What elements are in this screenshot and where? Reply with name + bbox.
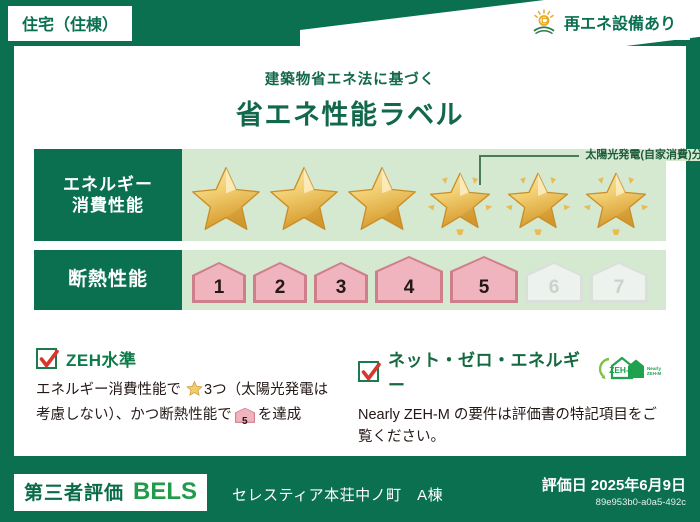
evaluation-info: 評価日 2025年6月9日 89e953b0-a0a5-492c — [542, 474, 686, 508]
net-zero-energy-body: Nearly ZEH-M の要件は評価書の特記項目をご覧ください。 — [358, 404, 664, 449]
label-title: 省エネ性能ラベル — [14, 93, 686, 132]
label-card: 建築物省エネ法に基づく 省エネ性能ラベル エネルギー 消費性能 太陽光発電(自家… — [14, 46, 686, 456]
energy-label-line1: エネルギー — [63, 174, 153, 195]
insulation-level-3: 3 — [312, 260, 370, 306]
svg-text:ZEH-M: ZEH-M — [609, 365, 636, 375]
insulation-performance-row: 断熱性能 1 — [34, 250, 666, 310]
evaluation-id: 89e953b0-a0a5-492c — [542, 497, 686, 508]
solar-caption-text: 太陽光発電(自家消費)分 — [579, 149, 700, 161]
building-name: セレスティア本荘中ノ町 A棟 — [232, 484, 443, 505]
insulation-level-1: 1 — [190, 260, 248, 306]
insulation-level-2: 2 — [251, 260, 309, 306]
zeh-m-logo-icon: ZEH-M Nearly ZEH-M — [598, 354, 664, 389]
star-solar-icon — [500, 162, 576, 236]
solar-caption: 太陽光発電(自家消費)分 — [479, 145, 700, 163]
check-icon — [358, 361, 379, 382]
net-zero-energy-title: ネット・ゼロ・エネルギー — [388, 346, 585, 396]
zeh-standard-block: ZEH水準 エネルギー消費性能で 3つ（太陽光発電は考慮しない）、かつ断熱性能で… — [36, 346, 342, 449]
insulation-level-7: 7 — [588, 260, 650, 306]
net-zero-energy-header: ネット・ゼロ・エネルギー ZEH-M Nearly ZEH-M — [358, 346, 664, 396]
insulation-level-value: 1 — [190, 277, 248, 299]
star-icon — [188, 162, 264, 236]
bels-jp-label: 第三者評価 — [24, 478, 124, 505]
evaluation-date: 評価日 2025年6月9日 — [542, 474, 686, 495]
check-icon — [36, 348, 57, 369]
star-icon — [344, 162, 420, 236]
star-solar-icon — [422, 162, 498, 236]
insulation-level-value: 7 — [588, 277, 650, 299]
insulation-scale: 1 2 3 — [182, 250, 666, 310]
zeh-standard-body: エネルギー消費性能で 3つ（太陽光発電は考慮しない）、かつ断熱性能で 5 を達成 — [36, 379, 342, 432]
insulation-level-5: 5 — [448, 254, 520, 306]
bels-en-label: BELS — [133, 478, 197, 506]
insulation-label-text: 断熱性能 — [68, 268, 148, 292]
house-icon-inline-value: 5 — [234, 414, 256, 430]
insulation-performance-label: 断熱性能 — [34, 250, 182, 310]
energy-star-scale: 太陽光発電(自家消費)分 — [182, 149, 666, 241]
building-type-tag: 住宅（住棟） — [8, 6, 132, 41]
sun-solar-icon — [531, 9, 557, 35]
insulation-level-6: 6 — [523, 260, 585, 306]
insulation-level-value: 5 — [448, 277, 520, 299]
zeh-body-part1: エネルギー消費性能で — [36, 382, 181, 398]
star-solar-icon — [578, 162, 654, 236]
insulation-level-value: 2 — [251, 277, 309, 299]
energy-performance-row: エネルギー 消費性能 太陽光発電(自家消費)分 — [34, 149, 666, 241]
net-zero-energy-block: ネット・ゼロ・エネルギー ZEH-M Nearly ZEH-M Nearly Z… — [358, 346, 664, 449]
zeh-summary-area: ZEH水準 エネルギー消費性能で 3つ（太陽光発電は考慮しない）、かつ断熱性能で… — [36, 346, 664, 449]
insulation-level-value: 3 — [312, 277, 370, 299]
insulation-level-value: 6 — [523, 277, 585, 299]
star-icon-inline — [182, 385, 203, 401]
footer-band: 第三者評価 BELS セレスティア本荘中ノ町 A棟 評価日 2025年6月9日 … — [0, 462, 700, 522]
renewable-badge-label: 再エネ設備あり — [564, 10, 676, 34]
energy-label-line2: 消費性能 — [72, 195, 144, 216]
energy-performance-label: エネルギー 消費性能 — [34, 149, 182, 241]
star-list — [188, 162, 654, 236]
zeh-standard-header: ZEH水準 — [36, 346, 342, 371]
house-icon-inline: 5 — [234, 407, 256, 431]
svg-text:ZEH-M: ZEH-M — [647, 371, 662, 376]
star-icon — [266, 162, 342, 236]
zeh-body-part3: を達成 — [258, 407, 302, 423]
renewable-equipment-badge: 再エネ設備あり — [521, 5, 690, 40]
house-list: 1 2 3 — [190, 254, 650, 306]
insulation-level-4: 4 — [373, 254, 445, 306]
metric-rows: エネルギー 消費性能 太陽光発電(自家消費)分 — [34, 149, 666, 319]
bels-logo: 第三者評価 BELS — [14, 474, 207, 511]
label-subtitle: 建築物省エネ法に基づく — [14, 68, 686, 89]
insulation-level-value: 4 — [373, 277, 445, 299]
zeh-standard-title: ZEH水準 — [66, 346, 137, 371]
